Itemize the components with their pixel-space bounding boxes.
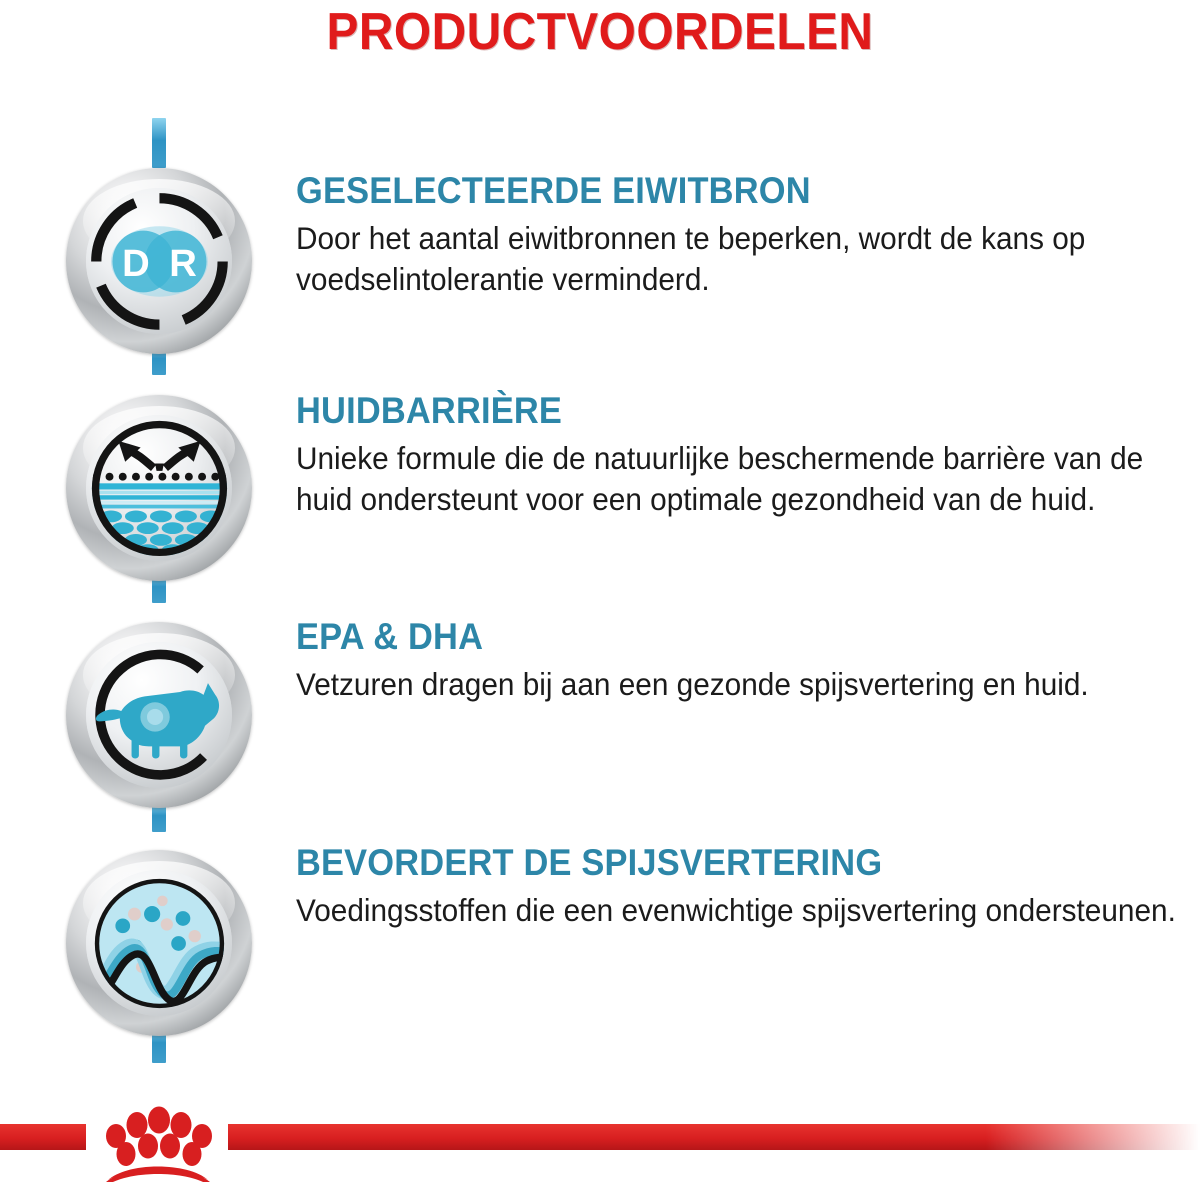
- brand-bar-right-segment: [228, 1124, 1200, 1150]
- benefit-icon-skin-barrier: [66, 395, 252, 581]
- footer-brand-bar: [0, 1124, 1200, 1152]
- benefit-heading: HUIDBARRIÈRE: [296, 392, 1133, 429]
- benefit-icon-digestion: [66, 850, 252, 1036]
- benefit-body: Unieke formule die de natuurlijke besche…: [296, 438, 1194, 520]
- connector-dash: [152, 118, 166, 168]
- benefit-body: Voedingsstoffen die een evenwichtige spi…: [296, 890, 1194, 931]
- cat-silhouette-icon: [86, 642, 233, 789]
- icon-inner-face: D R: [86, 188, 233, 335]
- benefit-heading: EPA & DHA: [296, 618, 1133, 655]
- icon-inner-face: [86, 642, 233, 789]
- benefit-heading: BEVORDERT DE SPIJSVERTERING: [296, 844, 1133, 881]
- svg-text:R: R: [169, 242, 197, 285]
- digestive-wave-icon: [86, 870, 233, 1017]
- benefit-icon-epa-dha: [66, 622, 252, 808]
- icon-inner-face: [86, 415, 233, 562]
- benefit-heading: GESELECTEERDE EIWITBRON: [296, 172, 1133, 209]
- skin-barrier-icon: [86, 415, 233, 562]
- selected-protein-venn-icon: D R: [86, 188, 233, 335]
- benefit-text-block: EPA & DHA Vetzuren dragen bij aan een ge…: [296, 618, 1196, 705]
- benefit-text-block: BEVORDERT DE SPIJSVERTERING Voedingsstof…: [296, 844, 1196, 931]
- royal-canin-crown-logo: [84, 1092, 232, 1182]
- benefit-body: Vetzuren dragen bij aan een gezonde spij…: [296, 664, 1194, 705]
- icon-inner-face: [86, 870, 233, 1017]
- page-title: PRODUCTVOORDELEN: [48, 2, 1152, 62]
- benefit-text-block: GESELECTEERDE EIWITBRON Door het aantal …: [296, 172, 1196, 300]
- brand-bar-left-segment: [0, 1124, 86, 1150]
- benefit-body: Door het aantal eiwitbronnen te beperken…: [296, 218, 1194, 300]
- benefit-text-block: HUIDBARRIÈRE Unieke formule die de natuu…: [296, 392, 1196, 520]
- benefit-icon-selected-protein: D R: [66, 168, 252, 354]
- svg-text:D: D: [122, 242, 150, 285]
